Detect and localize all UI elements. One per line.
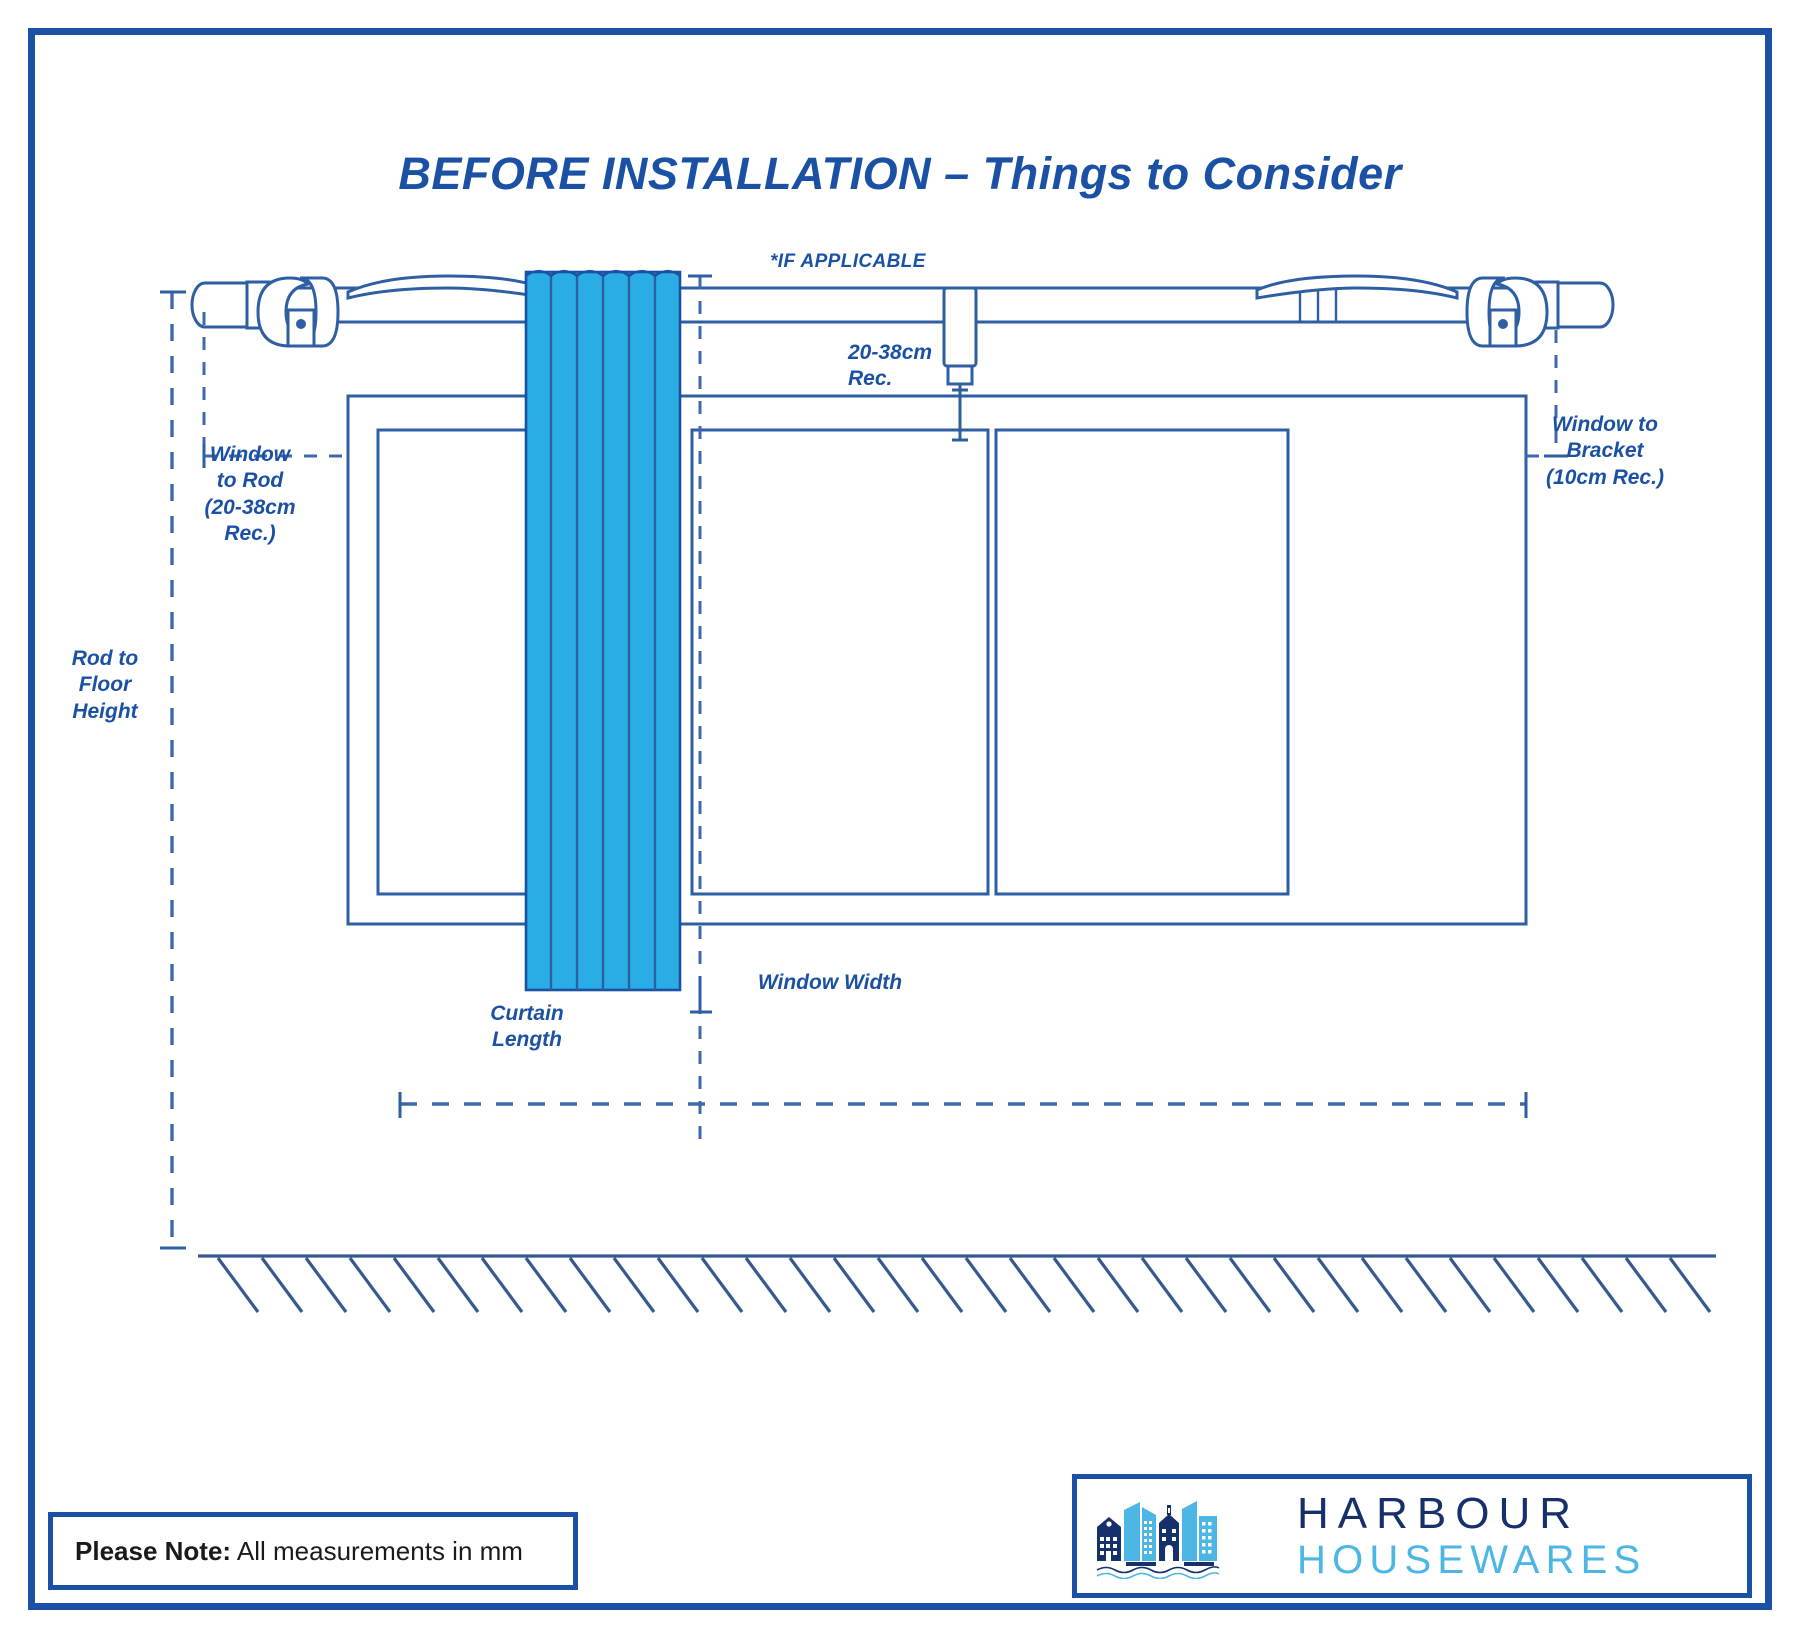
label-window-to-rod: Window to Rod (20-38cm Rec.) xyxy=(140,442,360,548)
please-note-label: Please Note: xyxy=(75,1536,231,1566)
brand-wordmark: HARBOUR HOUSEWARES xyxy=(1297,1492,1646,1580)
label-window-to-bracket: Window to Bracket (10cm Rec.) xyxy=(1490,412,1720,491)
brand-line-housewares: HOUSEWARES xyxy=(1297,1540,1646,1580)
brand-line-harbour: HARBOUR xyxy=(1297,1492,1646,1536)
please-note-box: Please Note: All measurements in mm xyxy=(48,1512,578,1590)
please-note-value: All measurements in mm xyxy=(237,1536,523,1566)
brand-logo-box: HARBOUR HOUSEWARES xyxy=(1072,1474,1752,1598)
label-centre-bracket-drop: 20-38cm Rec. xyxy=(848,340,932,393)
label-window-width: Window Width xyxy=(700,970,960,996)
label-if-applicable: *IF APPLICABLE xyxy=(770,250,926,274)
page-title: BEFORE INSTALLATION – Things to Consider xyxy=(0,148,1800,200)
harbour-skyline-icon xyxy=(1093,1493,1283,1579)
label-curtain-length: Curtain Length xyxy=(452,1001,602,1054)
label-rod-to-floor-height: Rod to Floor Height xyxy=(40,646,170,725)
page-root: BEFORE INSTALLATION – Things to Consider… xyxy=(0,0,1800,1638)
please-note-text: Please Note: All measurements in mm xyxy=(53,1536,523,1567)
